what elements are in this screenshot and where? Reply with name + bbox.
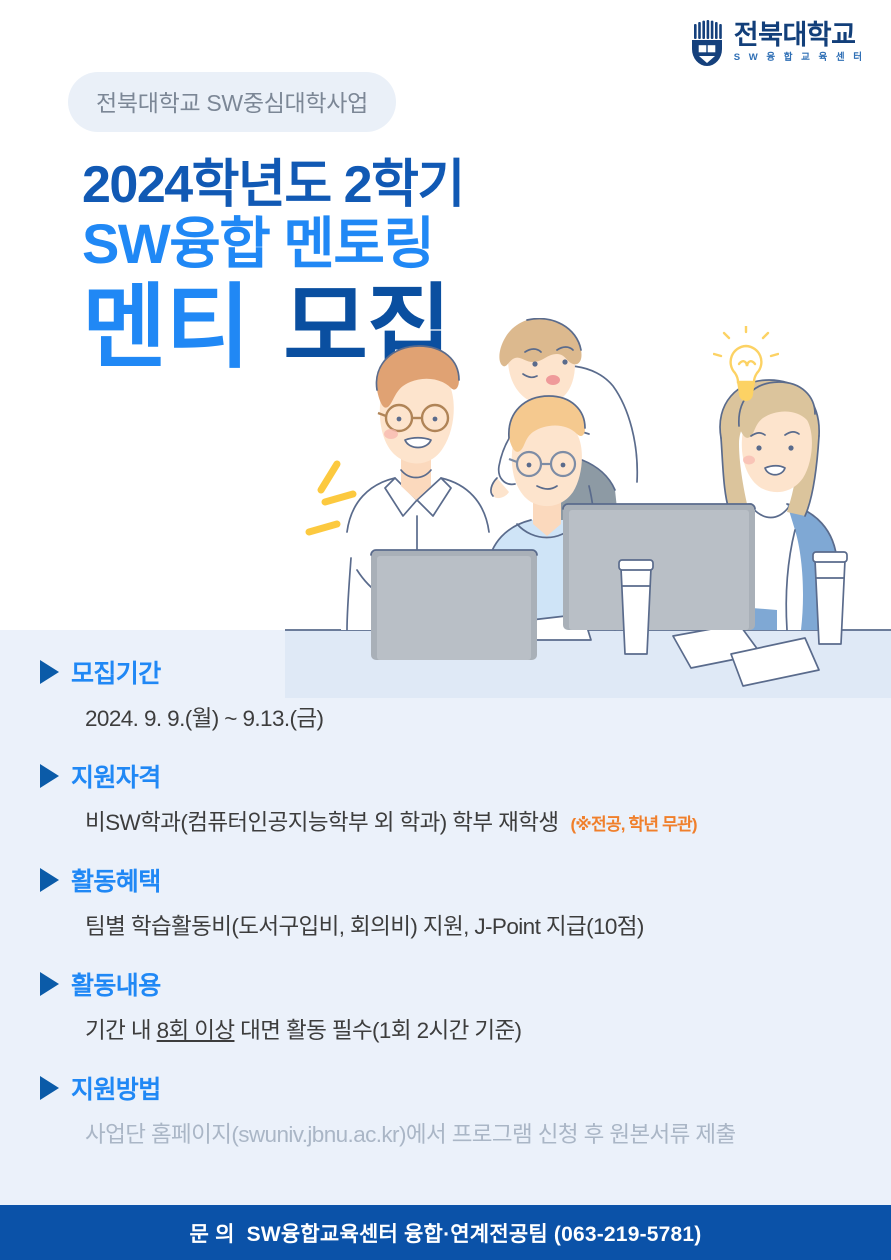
info-value-note: (※전공, 학년 무관) (570, 815, 696, 834)
headline-line-2: SW융합 멘토링 (82, 213, 464, 276)
logo-wordmark: 전북대학교 S W 융 합 교 육 센 터 (734, 22, 865, 63)
info-label: 지원자격 (71, 758, 161, 794)
laptop-left (371, 550, 537, 660)
coffee-cup-right (813, 552, 847, 644)
team-illustration: .ln { fill:none; stroke:#5a6b8c; stroke-… (285, 318, 891, 698)
info-value: 2024. 9. 9.(월) ~ 9.13.(금) (85, 701, 860, 733)
coffee-cup-center (619, 560, 653, 654)
info-value: 사업단 홈페이지(swuniv.jbnu.ac.kr)에서 프로그램 신청 후 … (85, 1117, 860, 1149)
program-badge: 전북대학교 SW중심대학사업 (68, 72, 396, 132)
info-row-head: 모집기간 (40, 654, 860, 690)
info-row-head: 활동혜택 (40, 862, 860, 898)
info-row-how-to-apply: 지원방법 사업단 홈페이지(swuniv.jbnu.ac.kr)에서 프로그램 … (40, 1070, 860, 1149)
triangle-right-icon (40, 764, 59, 788)
logo-sub-text: S W 융 합 교 육 센 터 (734, 53, 865, 63)
info-row-head: 지원자격 (40, 758, 860, 794)
info-list: 모집기간 2024. 9. 9.(월) ~ 9.13.(금) 지원자격 비SW학… (40, 654, 860, 1149)
triangle-right-icon (40, 868, 59, 892)
info-label: 모집기간 (71, 654, 161, 690)
headline-line-1: 2024학년도 2학기 (82, 158, 464, 213)
triangle-right-icon (40, 972, 59, 996)
info-value-text: 비SW학과(컴퓨터인공지능학부 외 학과) 학부 재학생 (85, 810, 558, 835)
poster-canvas: 전북대학교 S W 융 합 교 육 센 터 전북대학교 SW중심대학사업 202… (0, 0, 891, 1260)
lightbulb-icon (713, 326, 779, 404)
jbnu-crest-icon (689, 18, 725, 66)
info-value-post: 대면 활동 필수(1회 2시간 기준) (234, 1018, 521, 1043)
contact-footer: 문 의 SW융합교육센터 융합·연계전공팀 (063-219-5781) (0, 1205, 891, 1260)
info-row-benefits: 활동혜택 팀별 학습활동비(도서구입비, 회의비) 지원, J-Point 지급… (40, 862, 860, 941)
info-row-recruit-period: 모집기간 2024. 9. 9.(월) ~ 9.13.(금) (40, 654, 860, 733)
laptop-center (563, 504, 755, 630)
contact-text: 문 의 SW융합교육센터 융합·연계전공팀 (063-219-5781) (190, 1218, 702, 1248)
sparkle-rays-icon (303, 456, 373, 542)
university-logo: 전북대학교 S W 융 합 교 육 센 터 (689, 18, 865, 66)
info-value-underlined: 8회 이상 (157, 1018, 235, 1043)
info-value: 기간 내 8회 이상 대면 활동 필수(1회 2시간 기준) (85, 1013, 860, 1045)
triangle-right-icon (40, 1076, 59, 1100)
info-value: 비SW학과(컴퓨터인공지능학부 외 학과) 학부 재학생(※전공, 학년 무관) (85, 805, 860, 837)
triangle-right-icon (40, 660, 59, 684)
info-row-head: 활동내용 (40, 966, 860, 1002)
logo-main-text: 전북대학교 (734, 22, 865, 49)
info-label: 지원방법 (71, 1070, 161, 1106)
info-label: 활동혜택 (71, 862, 161, 898)
headline-mentee: 멘티 (82, 277, 249, 379)
info-label: 활동내용 (71, 966, 161, 1002)
info-value-pre: 기간 내 (85, 1018, 157, 1043)
info-value: 팀별 학습활동비(도서구입비, 회의비) 지원, J-Point 지급(10점) (85, 909, 860, 941)
info-row-activities: 활동내용 기간 내 8회 이상 대면 활동 필수(1회 2시간 기준) (40, 966, 860, 1045)
info-row-eligibility: 지원자격 비SW학과(컴퓨터인공지능학부 외 학과) 학부 재학생(※전공, 학… (40, 758, 860, 837)
info-row-head: 지원방법 (40, 1070, 860, 1106)
